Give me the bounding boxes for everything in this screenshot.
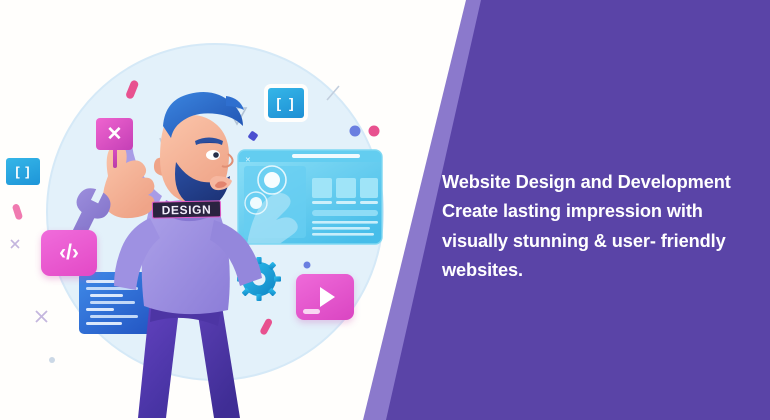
headline-line-3: visually stunning & user- friendly: [442, 227, 758, 256]
shirt-design-tag-label: DESIGN: [162, 202, 212, 217]
shirt-design-tag: DESIGN: [152, 200, 221, 218]
video-play-badge: [296, 274, 354, 320]
code-bracket-badge-top: [ ]: [268, 88, 304, 118]
badge-stick: [113, 150, 117, 168]
headline-line-1: Website Design and Development: [442, 168, 758, 197]
video-progress-bar: [303, 309, 320, 314]
headline-block: Website Design and Development Create la…: [442, 168, 758, 286]
headline-line-4: websites.: [442, 256, 758, 285]
close-icon: ✕: [107, 123, 123, 146]
code-bracket-badge-left: [ ]: [6, 158, 40, 185]
hero-banner: ✕: [0, 0, 770, 420]
code-tag-badge-label: ‹/›: [59, 241, 79, 265]
headline-line-2: Create lasting impression with: [442, 197, 758, 226]
play-icon: [320, 287, 335, 307]
code-tag-badge: ‹/›: [41, 230, 97, 276]
code-bracket-badge-left-label: [ ]: [15, 164, 30, 179]
close-badge: ✕: [96, 118, 133, 150]
code-bracket-badge-top-label: [ ]: [276, 95, 295, 111]
